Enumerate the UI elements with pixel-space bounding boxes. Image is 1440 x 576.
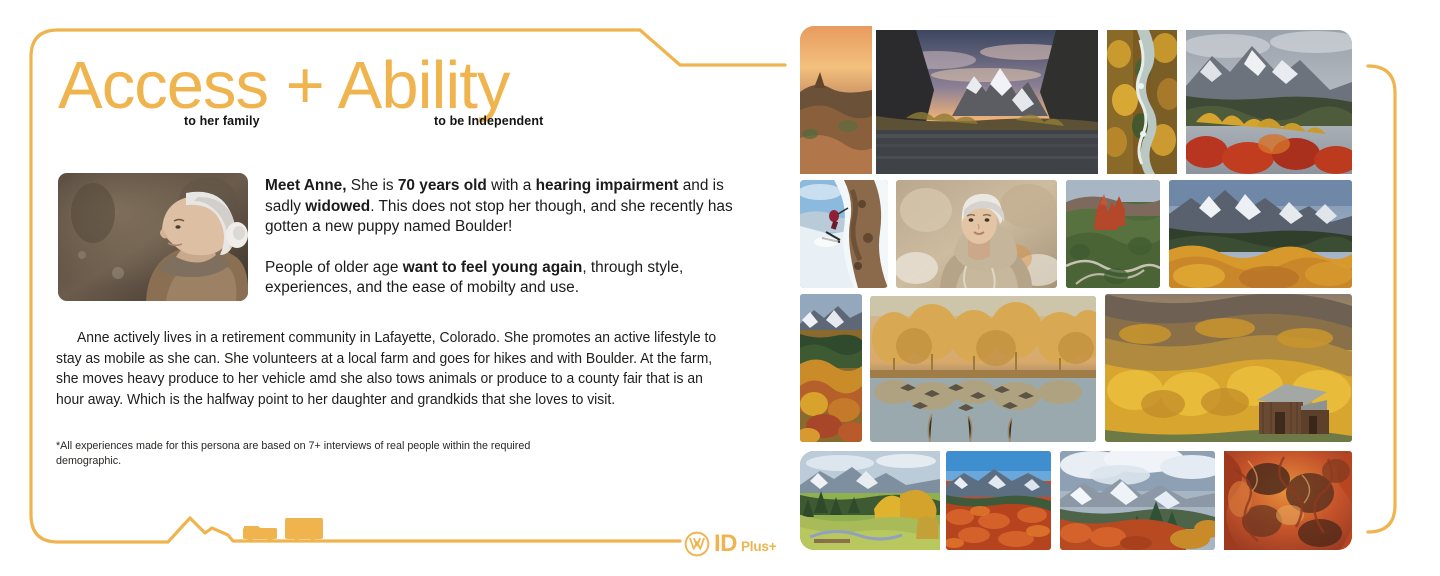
gallery-item-maroon-bells-lake-photo [876,30,1098,174]
gallery-item-skier-powder-photo [800,180,888,288]
intro-paragraph-2: People of older age want to feel young a… [265,258,745,299]
footnote: *All experiences made for this persona a… [56,439,594,469]
intro2-bold-feel-young: want to feel young again [403,259,583,276]
gallery-item-snowy-peak-red-foliage-photo [1186,30,1352,174]
gallery-item-elderly-woman-portrait-photo [896,180,1057,288]
brand-logo: ID Plus+ [684,531,776,557]
intro-text-block: Meet Anne, She is 70 years old with a he… [265,176,745,299]
gallery-item-pond-birds-photo [870,296,1096,442]
intro-paragraph-1: Meet Anne, She is 70 years old with a he… [265,176,745,238]
gallery-item-aerial-river-autumn-photo [1107,30,1177,174]
logo-id-text: ID [714,532,737,556]
anne-portrait-photo [58,173,248,301]
gallery-item-rustic-barn-aspen-photo [1105,294,1352,442]
title-second-word: Ability [338,48,510,123]
gallery-item-mountain-meadow-photo [800,451,940,550]
gallery-item-garden-of-the-gods-photo [1066,180,1160,288]
logo-plus-text: Plus+ [741,540,776,554]
intro-bold-impairment: hearing impairment [536,177,679,194]
photo-gallery [800,26,1352,550]
intro-bold-age: 70 years old [398,177,487,194]
intro-bold-meet-anne: Meet Anne, [265,177,347,194]
gallery-item-red-rock-abstract-photo [1224,451,1352,550]
truck-trailer-icon [243,518,323,543]
gallery-item-autumn-hillside-strip-photo [800,294,862,442]
gallery-item-flatirons-red-field-photo [946,451,1051,550]
vw-roundel-icon [684,531,710,557]
poster-canvas: Access + Ability to her family to be Ind… [0,0,1440,576]
page-title: Access + Ability [58,52,509,119]
intro2-text-1: People of older age [265,259,403,276]
title-plus: + [286,48,324,123]
intro-bold-widowed: widowed [305,198,370,215]
gallery-item-sunset-canyon-photo [800,26,872,174]
subtitle-to-be-independent: to be Independent [434,114,543,128]
gallery-item-dallas-divide-photo [1169,180,1352,288]
title-first-word: Access [58,48,268,123]
subtitle-to-her-family: to her family [184,114,260,128]
body-paragraph-text: Anne actively lives in a retirement comm… [56,330,716,408]
gallery-item-snowy-peaks-clouds-photo [1060,451,1215,550]
intro-text-2: with a [487,177,536,194]
intro-text-1: She is [347,177,398,194]
body-paragraph: Anne actively lives in a retirement comm… [56,328,717,410]
